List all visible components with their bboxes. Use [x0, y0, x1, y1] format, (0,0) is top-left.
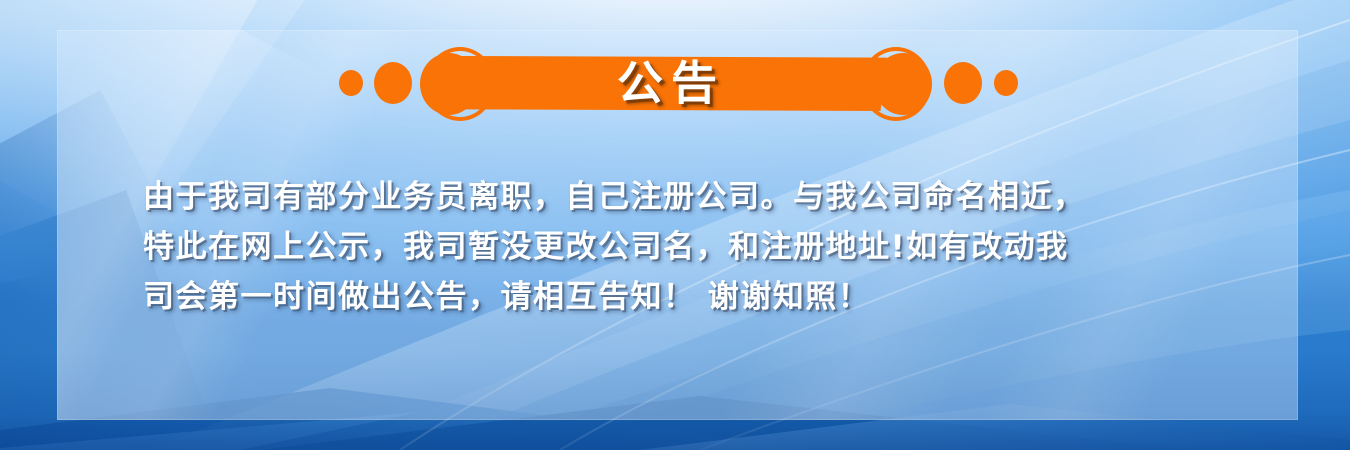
announcement-body: 由于我司有部分业务员离职，自己注册公司。与我公司命名相近， 特此在网上公示，我司… [143, 172, 1223, 322]
announcement-line-1: 由于我司有部分业务员离职，自己注册公司。与我公司命名相近， [143, 172, 1223, 222]
banner-title: 公告 [455, 50, 887, 110]
right-medium-dot-icon [944, 62, 982, 104]
announcement-banner: 公告 由于我司有部分业务员离职，自己注册公司。与我公司命名相近， 特此在网上公示… [0, 0, 1350, 450]
right-small-dot-icon [994, 70, 1018, 96]
announcement-line-2: 特此在网上公示，我司暂没更改公司名，和注册地址!如有改动我 [143, 222, 1223, 272]
left-medium-dot-icon [374, 62, 412, 104]
left-small-dot-icon [339, 70, 363, 96]
announcement-line-3: 司会第一时间做出公告，请相互告知！ 谢谢知照！ [143, 272, 1223, 322]
